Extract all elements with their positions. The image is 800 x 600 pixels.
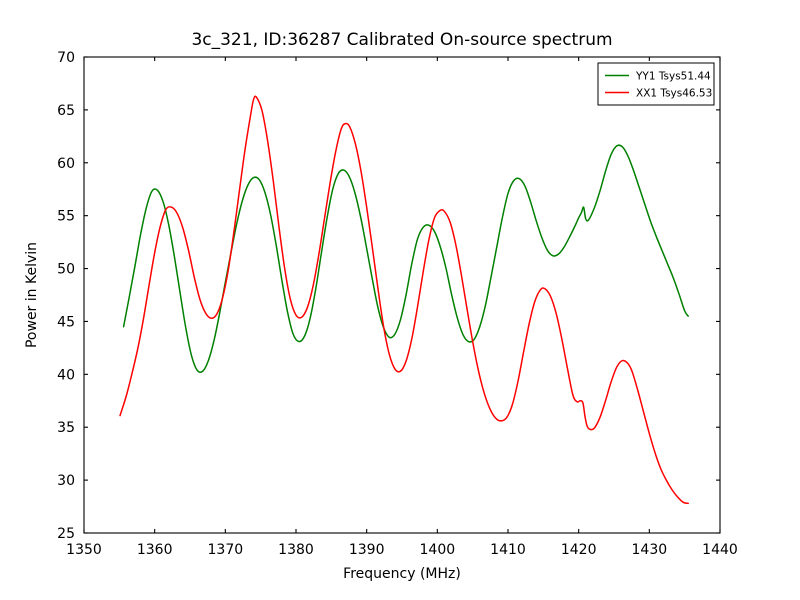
legend[interactable]: YY1 Tsys51.44XX1 Tsys46.53 bbox=[598, 63, 714, 105]
x-tick-label: 1390 bbox=[349, 542, 385, 558]
y-tick-label: 40 bbox=[57, 367, 75, 383]
y-tick-label: 45 bbox=[57, 314, 75, 330]
figure-canvas: 3c_321, ID:36287 Calibrated On-source sp… bbox=[0, 0, 800, 600]
y-axis-label: Power in Kelvin bbox=[24, 242, 40, 348]
chart-title: 3c_321, ID:36287 Calibrated On-source sp… bbox=[191, 30, 612, 50]
legend-label[interactable]: YY1 Tsys51.44 bbox=[635, 71, 711, 83]
x-tick-label: 1360 bbox=[137, 542, 173, 558]
x-tick-label: 1380 bbox=[278, 542, 314, 558]
y-tick-label: 60 bbox=[57, 156, 75, 172]
x-tick-label: 1410 bbox=[490, 542, 526, 558]
y-tick-label: 35 bbox=[57, 420, 75, 436]
spectrum-plot[interactable]: 3c_321, ID:36287 Calibrated On-source sp… bbox=[0, 0, 800, 600]
legend-label[interactable]: XX1 Tsys46.53 bbox=[636, 88, 712, 100]
y-tick-label: 65 bbox=[57, 103, 75, 119]
y-tick-label: 70 bbox=[57, 50, 75, 66]
x-tick-label: 1400 bbox=[420, 542, 456, 558]
x-tick-label: 1370 bbox=[208, 542, 244, 558]
x-tick-label: 1440 bbox=[702, 542, 738, 558]
y-tick-label: 55 bbox=[57, 209, 75, 225]
x-tick-label: 1350 bbox=[66, 542, 102, 558]
y-tick-label: 25 bbox=[57, 526, 75, 542]
x-axis-label: Frequency (MHz) bbox=[343, 566, 461, 582]
y-tick-label: 50 bbox=[57, 262, 75, 278]
y-tick-label: 30 bbox=[57, 473, 75, 489]
x-tick-label: 1420 bbox=[561, 542, 597, 558]
x-tick-label: 1430 bbox=[632, 542, 668, 558]
